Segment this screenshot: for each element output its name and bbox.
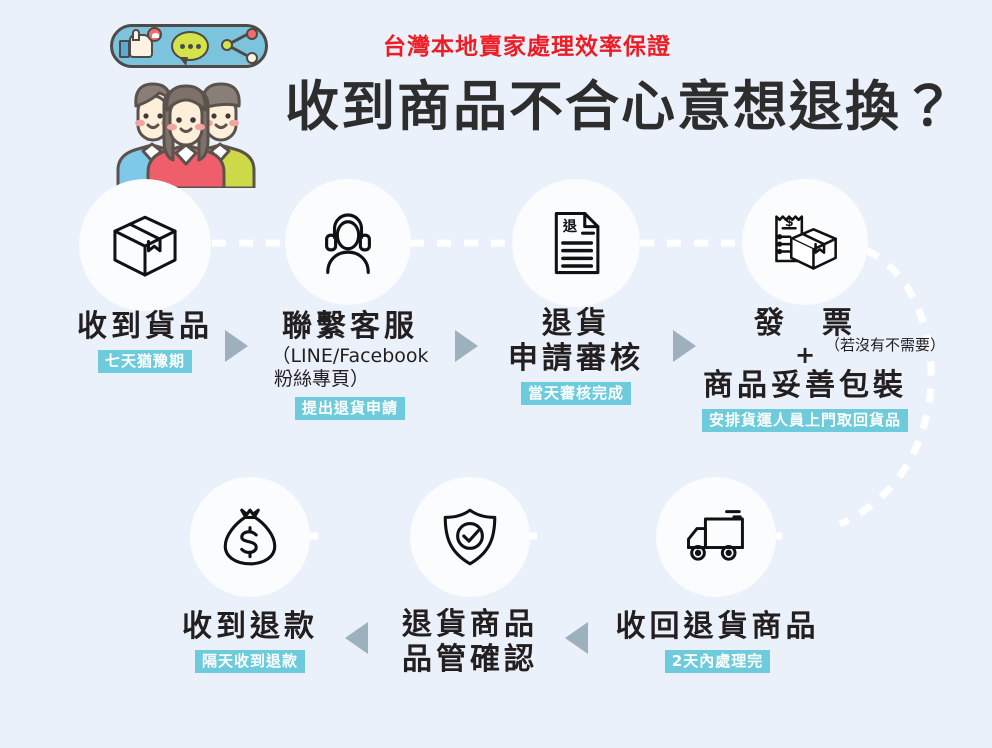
step-3-circle: 退 [512, 179, 640, 307]
step-5-labels: 收回退貨商品 2天內處理完 [610, 610, 825, 673]
svg-text:$: $ [785, 214, 794, 229]
step-2-labels: 聯繫客服 （LINE/Facebook 粉絲專頁） 提出退貨申請 [252, 310, 448, 420]
step-4-note: （若沒有不需要） [825, 334, 945, 355]
step-5-title: 收回退貨商品 [610, 610, 825, 645]
customer-service-headset-icon [310, 204, 386, 280]
three-people-illustration [108, 66, 268, 188]
step-7-title: 收到退款 [170, 610, 330, 645]
step-6-title-line2: 品管確認 [390, 643, 550, 678]
notification-heart-icon [147, 27, 162, 42]
step-2-circle [285, 179, 411, 305]
step-3-badge: 當天審核完成 [521, 382, 631, 405]
step-4-badge: 安排貨運人員上門取回貨品 [702, 409, 908, 432]
return-document-icon: 退 [538, 205, 614, 281]
step-5-badge: 2天內處理完 [665, 650, 770, 673]
step-6-labels: 退貨商品 品管確認 [390, 608, 550, 678]
step-1-badge: 七天猶豫期 [98, 350, 192, 373]
svg-text:退: 退 [562, 217, 578, 235]
thumbs-up-icon [119, 32, 159, 60]
step-2-sub-line2: 粉絲專頁） [252, 368, 448, 392]
invoice-and-parcel-icon: $ [767, 204, 843, 280]
arrow-right-icon [455, 330, 478, 362]
infographic-canvas: 台灣本地賣家處理效率保證 收到商品不合心意想退換？ [0, 0, 992, 748]
arrow-left-icon [565, 622, 588, 654]
step-5-circle [656, 477, 776, 597]
kicker-text: 台灣本地賣家處理效率保證 [383, 27, 671, 61]
step-1-circle [79, 179, 211, 311]
step-4-labels: 發 票 （若沒有不需要） + 商品妥善包裝 安排貨運人員上門取回貨品 [680, 307, 930, 432]
step-2-sub-line1: （LINE/Facebook [252, 345, 448, 369]
step-7-circle [190, 477, 310, 597]
step-2-title: 聯繫客服 [252, 310, 448, 345]
page-title: 收到商品不合心意想退換？ [285, 62, 957, 141]
step-6-circle [410, 477, 530, 597]
money-bag-icon [212, 499, 288, 575]
arrow-left-icon [345, 622, 368, 654]
step-4-title-line2: 商品妥善包裝 [680, 369, 930, 404]
social-icons-bar [110, 24, 268, 68]
step-3-title-line1: 退貨 [487, 307, 665, 342]
arrow-right-icon [225, 330, 248, 362]
step-7-labels: 收到退款 隔天收到退款 [170, 610, 330, 673]
package-box-icon [107, 207, 183, 283]
chat-bubble-icon [171, 31, 209, 61]
share-icon [221, 30, 259, 62]
shield-check-icon [432, 499, 508, 575]
step-6-title-line1: 退貨商品 [390, 608, 550, 643]
delivery-truck-icon [678, 499, 754, 575]
step-4-circle: $ [742, 179, 868, 305]
step-3-labels: 退貨 申請審核 當天審核完成 [487, 307, 665, 405]
hero-illustration [104, 18, 276, 188]
step-3-title-line2: 申請審核 [487, 342, 665, 377]
step-7-badge: 隔天收到退款 [195, 650, 305, 673]
step-1-labels: 收到貨品 七天猶豫期 [45, 310, 245, 373]
step-1-title: 收到貨品 [45, 310, 245, 345]
step-2-badge: 提出退貨申請 [295, 397, 405, 420]
